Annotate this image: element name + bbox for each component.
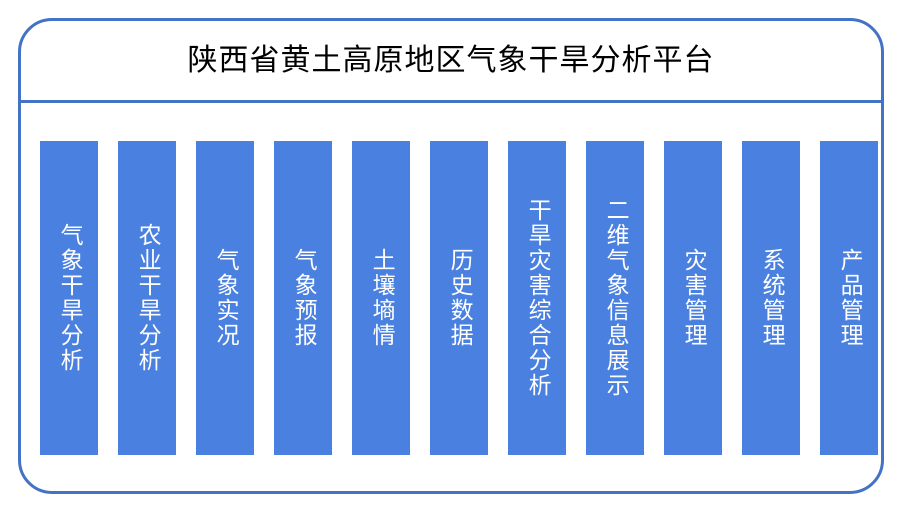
module-button-2d-weather-information-display[interactable]: 二维气象信息展示 — [586, 141, 644, 455]
page-title: 陕西省黄土高原地区气象干旱分析平台 — [188, 44, 715, 77]
module-button-disaster-management[interactable]: 灾害管理 — [664, 141, 722, 455]
module-label: 土壤墒情 — [366, 248, 396, 348]
title-bar: 陕西省黄土高原地区气象干旱分析平台 — [21, 21, 881, 103]
module-button-historical-data[interactable]: 历史数据 — [430, 141, 488, 455]
module-button-weather-observation[interactable]: 气象实况 — [196, 141, 254, 455]
module-button-soil-moisture[interactable]: 土壤墒情 — [352, 141, 410, 455]
module-button-agricultural-drought-analysis[interactable]: 农业干旱分析 — [118, 141, 176, 455]
module-label: 历史数据 — [444, 248, 474, 348]
module-label: 产品管理 — [834, 248, 864, 348]
module-label: 灾害管理 — [678, 248, 708, 348]
module-label: 干旱灾害综合分析 — [522, 198, 552, 398]
module-label: 气象预报 — [288, 248, 318, 348]
module-label: 系统管理 — [756, 248, 786, 348]
module-button-weather-forecast[interactable]: 气象预报 — [274, 141, 332, 455]
module-button-drought-disaster-comprehensive-analysis[interactable]: 干旱灾害综合分析 — [508, 141, 566, 455]
module-label: 二维气象信息展示 — [600, 198, 630, 398]
module-navigation-strip: 气象干旱分析 农业干旱分析 气象实况 气象预报 土壤墒情 历史数据 干旱灾害综合… — [21, 106, 881, 491]
module-button-system-management[interactable]: 系统管理 — [742, 141, 800, 455]
module-button-product-management[interactable]: 产品管理 — [820, 141, 878, 455]
module-label: 农业干旱分析 — [132, 223, 162, 373]
application-frame: 陕西省黄土高原地区气象干旱分析平台 气象干旱分析 农业干旱分析 气象实况 气象预… — [18, 18, 884, 494]
module-label: 气象干旱分析 — [54, 223, 84, 373]
module-button-meteorological-drought-analysis[interactable]: 气象干旱分析 — [40, 141, 98, 455]
module-label: 气象实况 — [210, 248, 240, 348]
